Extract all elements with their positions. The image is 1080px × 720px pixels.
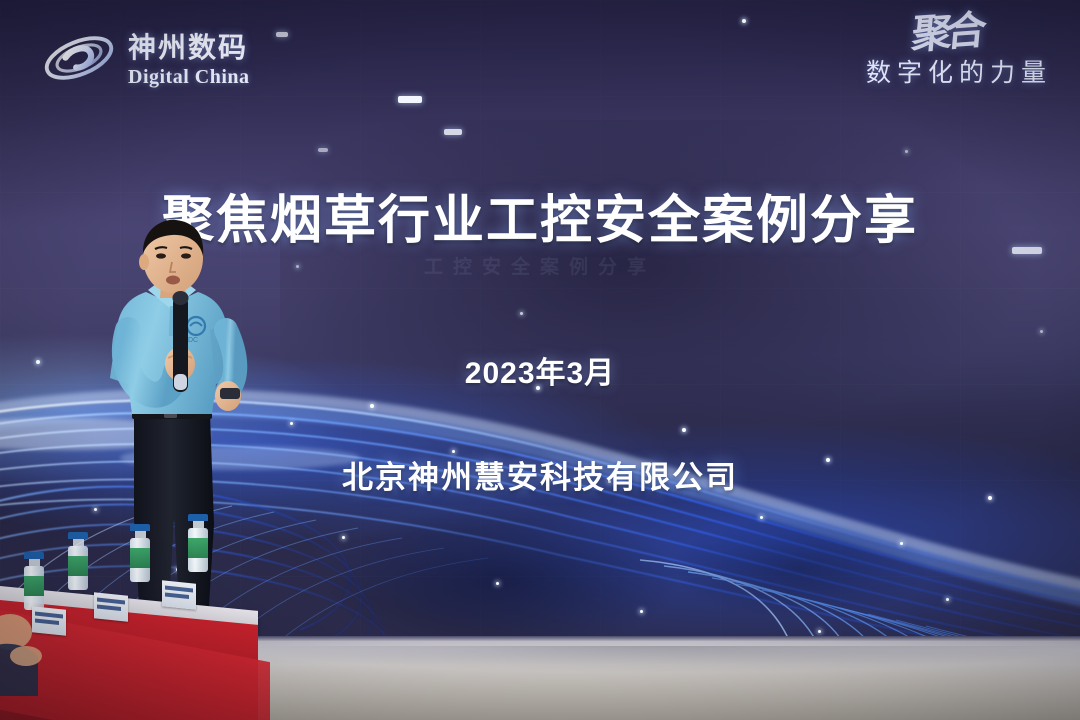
brand-name-cn: 神州数码 — [128, 34, 250, 62]
digital-china-wordmark: 神州数码 Digital China — [128, 30, 250, 87]
light-particle — [520, 312, 523, 315]
light-dash — [398, 96, 422, 103]
event-theme-logo: 聚合 数字化的力量 — [792, 16, 1052, 116]
presentation-clicker-icon — [220, 388, 240, 399]
water-bottle — [24, 552, 44, 610]
stage-floor-shadow — [250, 646, 1080, 672]
svg-text:DC: DC — [188, 337, 198, 344]
seated-audience-member — [0, 606, 56, 696]
name-card — [162, 580, 196, 610]
wave-particle — [342, 536, 345, 539]
wave-particle — [682, 428, 686, 432]
light-particle — [742, 19, 746, 23]
light-particle — [905, 150, 908, 153]
wave-particle — [640, 610, 643, 613]
event-tagline: 数字化的力量 — [792, 53, 1052, 89]
digital-china-logo: 神州数码 Digital China — [40, 18, 290, 98]
wave-particle — [900, 542, 903, 545]
light-dash — [318, 148, 328, 152]
light-dash — [444, 129, 462, 135]
water-bottle — [130, 524, 150, 582]
conference-stage-photo: 神州数码 Digital China 聚合 数字化的力量 聚焦烟草行业工控安全案… — [0, 0, 1080, 720]
brand-name-en: Digital China — [128, 67, 250, 87]
wave-particle — [818, 630, 821, 633]
water-bottle — [68, 532, 88, 590]
wave-particle — [290, 422, 293, 425]
wave-particle — [760, 516, 763, 519]
wave-particle — [370, 404, 374, 408]
handheld-microphone-icon — [173, 291, 189, 392]
water-bottle — [188, 514, 208, 572]
galaxy-swirl-logo-icon — [40, 27, 118, 89]
event-calligraphy: 聚合 — [910, 14, 982, 53]
wave-particle — [946, 598, 949, 601]
name-card — [94, 592, 128, 622]
wave-particle — [496, 582, 499, 585]
